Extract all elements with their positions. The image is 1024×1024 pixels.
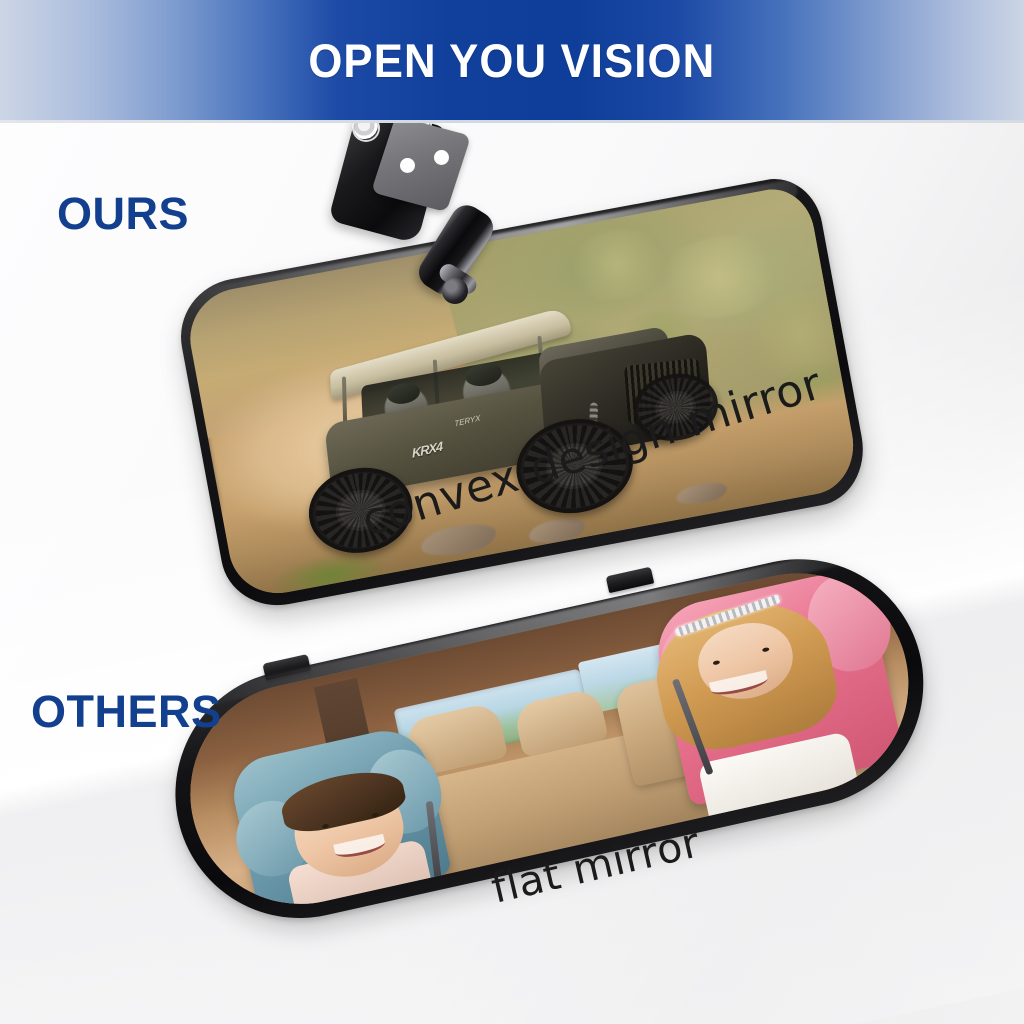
mount-ball-joint [442, 278, 468, 304]
label-others: OTHERS [31, 686, 222, 738]
mirror-mount-bracket [330, 118, 550, 293]
banner-underline [0, 120, 1024, 123]
mount-hole [434, 150, 449, 165]
mount-hole [400, 158, 415, 173]
product-comparison-image: OPEN YOU VISION OURS OTHERS [0, 0, 1024, 1024]
header-banner: OPEN YOU VISION [0, 0, 1024, 120]
banner-title: OPEN YOU VISION [308, 33, 715, 88]
label-ours: OURS [57, 188, 189, 240]
